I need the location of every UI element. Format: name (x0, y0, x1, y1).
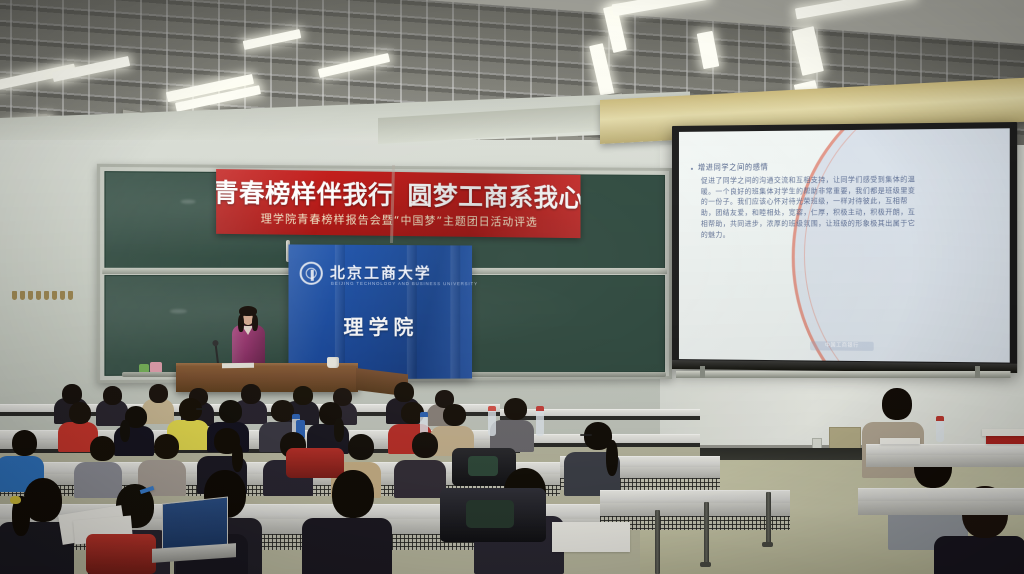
desk-foot (700, 562, 711, 567)
banner-main-text: 青春榜样伴我行圆梦工商系我心 (216, 180, 580, 210)
speaker-presenter (228, 307, 268, 369)
red-jacket-on-chair (286, 448, 344, 478)
university-name-en: BEIJING TECHNOLOGY AND BUSINESS UNIVERSI… (331, 281, 478, 286)
projection-screen: 增进同学之间的感情 促进了同学之间的沟通交流和互相支持，让同学们感受到集体的温暖… (672, 122, 1017, 373)
bottle-cap (936, 416, 944, 421)
red-folder (986, 436, 1024, 444)
podium-papers (222, 363, 254, 369)
audience-seating (0, 382, 1024, 574)
bottle-cap (420, 412, 428, 417)
notebook (552, 522, 630, 552)
screen-bracket-left (700, 366, 705, 378)
screen-bracket-right (975, 366, 980, 378)
slide-content: 增进同学之间的感情 促进了同学之间的沟通交流和互相支持，让同学们感受到集体的温暖… (691, 162, 919, 240)
desk-row-a2-edge (500, 416, 700, 420)
slide-heading-row: 增进同学之间的感情 (691, 162, 919, 172)
hair-tie (10, 496, 21, 504)
speaker-hair-right (252, 315, 258, 331)
bottle-cap (488, 406, 496, 411)
red-backpack (86, 534, 156, 574)
strip-light-icon (612, 0, 711, 16)
strip-light-icon (795, 0, 915, 19)
bottle-cap (536, 406, 544, 411)
desk-leg (766, 492, 771, 544)
slide-heading: 增进同学之间的感情 (698, 163, 769, 172)
backpack-pocket (466, 500, 514, 528)
desk-leg (704, 502, 709, 564)
desk-leg (655, 510, 660, 574)
banner-subtitle: 理学院青春榜样报告会暨“中国梦”主题团日活动评选 (261, 213, 538, 228)
desk-foot (762, 542, 773, 547)
desk-row-right-1-front (866, 455, 1024, 467)
department-name-cn: 理学院 (288, 311, 472, 340)
university-banner-blue: 北京工商大学 BEIJING TECHNOLOGY AND BUSINESS U… (288, 244, 472, 379)
university-seal-logo-icon (300, 262, 323, 285)
banner-main-left: 青春榜样伴我行 (216, 178, 393, 210)
backpack-pocket (468, 456, 498, 476)
slide-watermark: 中国工商银行 (810, 341, 874, 351)
wall-hooks (12, 291, 73, 300)
lecture-hall-photo: 青春榜样伴我行圆梦工商系我心 理学院青春榜样报告会暨“中国梦”主题团日活动评选 … (0, 0, 1024, 574)
paper-cup (327, 357, 339, 368)
slide-paragraph: 促进了同学之间的沟通交流和互相支持，让同学们感受到集体的温暖。一个良好的班集体对… (701, 174, 919, 240)
notebook (982, 429, 1024, 436)
bullet-dot-icon (691, 168, 693, 170)
event-banner-red: 青春榜样伴我行圆梦工商系我心 理学院青春榜样报告会暨“中国梦”主题团日活动评选 (216, 169, 580, 238)
water-bottle (488, 410, 496, 436)
screen-roller-bar (676, 371, 1011, 378)
water-bottle (936, 420, 944, 442)
speaker-hair-left (238, 315, 244, 332)
banner-main-right: 圆梦工商系我心 (407, 181, 580, 212)
projected-slide: 增进同学之间的感情 促进了同学之间的沟通交流和互相支持，让同学们感受到集体的温暖… (679, 128, 1010, 362)
desk-row-d2-front (600, 503, 790, 517)
notebook-paper (880, 438, 920, 444)
water-bottle (536, 410, 544, 436)
bottle-cap (292, 414, 300, 419)
desk-row-right-2-front (858, 501, 1024, 515)
